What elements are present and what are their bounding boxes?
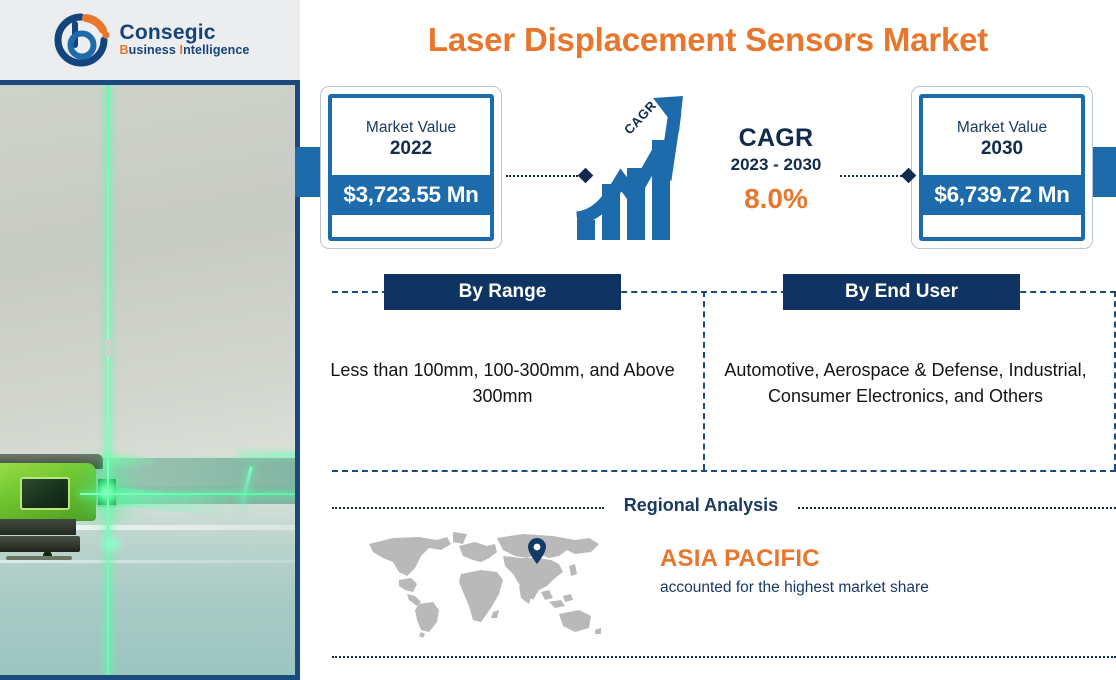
hero-photo [0, 80, 300, 680]
page-title: Laser Displacement Sensors Market [300, 0, 1116, 80]
mv-2022-footer [332, 215, 490, 237]
cagr-period: 2023 - 2030 [705, 155, 847, 175]
regional-description: accounted for the highest market share [660, 578, 990, 599]
regional-divider-right [798, 507, 1116, 509]
brand-logo-text: Consegic Business Intelligence [120, 22, 250, 57]
map-pin-icon [528, 538, 546, 564]
regional-highlight: ASIA PACIFIC accounted for the highest m… [660, 545, 990, 599]
market-value-2030-card: Market Value 2030 $6,739.72 Mn [911, 86, 1093, 249]
mv-2022-value: $3,723.55 Mn [332, 175, 490, 215]
segment-mid-divider [703, 291, 705, 470]
world-map-icon [363, 528, 608, 638]
cagr-rate: 8.0% [705, 183, 847, 215]
mv-2030-label: Market Value [957, 119, 1047, 137]
mv-2030-footer [923, 215, 1081, 237]
left-panel: Consegic Business Intelligence [0, 0, 300, 680]
regional-divider-left [332, 507, 604, 509]
segment-bottom-divider [332, 470, 1116, 472]
cagr-info: CAGR 2023 - 2030 8.0% [705, 124, 847, 215]
mv-2022-year: 2022 [390, 138, 432, 160]
brand-tagline: Business Intelligence [120, 44, 250, 57]
cagr-title: CAGR [705, 124, 847, 153]
connector-line-right [840, 175, 906, 177]
brand-name: Consegic [120, 22, 250, 44]
consegic-b-logo-icon [51, 11, 113, 69]
regional-region-name: ASIA PACIFIC [660, 545, 990, 573]
brand-logo[interactable]: Consegic Business Intelligence [51, 11, 250, 69]
mv-2030-year: 2030 [981, 138, 1023, 160]
regional-analysis-title: Regional Analysis [608, 495, 794, 516]
mv-2022-label: Market Value [366, 119, 456, 137]
segment-title-by-end-user: By End User [783, 274, 1020, 310]
mv-2030-value: $6,739.72 Mn [923, 175, 1081, 215]
segment-title-by-range: By Range [384, 274, 621, 310]
market-value-2022-card: Market Value 2022 $3,723.55 Mn [320, 86, 502, 249]
segment-items-by-range: Less than 100mm, 100-300mm, and Above 30… [330, 358, 675, 409]
brand-logo-area[interactable]: Consegic Business Intelligence [0, 0, 300, 80]
connector-line-left [506, 175, 578, 177]
segment-items-by-end-user: Automotive, Aerospace & Defense, Industr… [718, 358, 1093, 409]
bottom-divider [332, 656, 1116, 658]
